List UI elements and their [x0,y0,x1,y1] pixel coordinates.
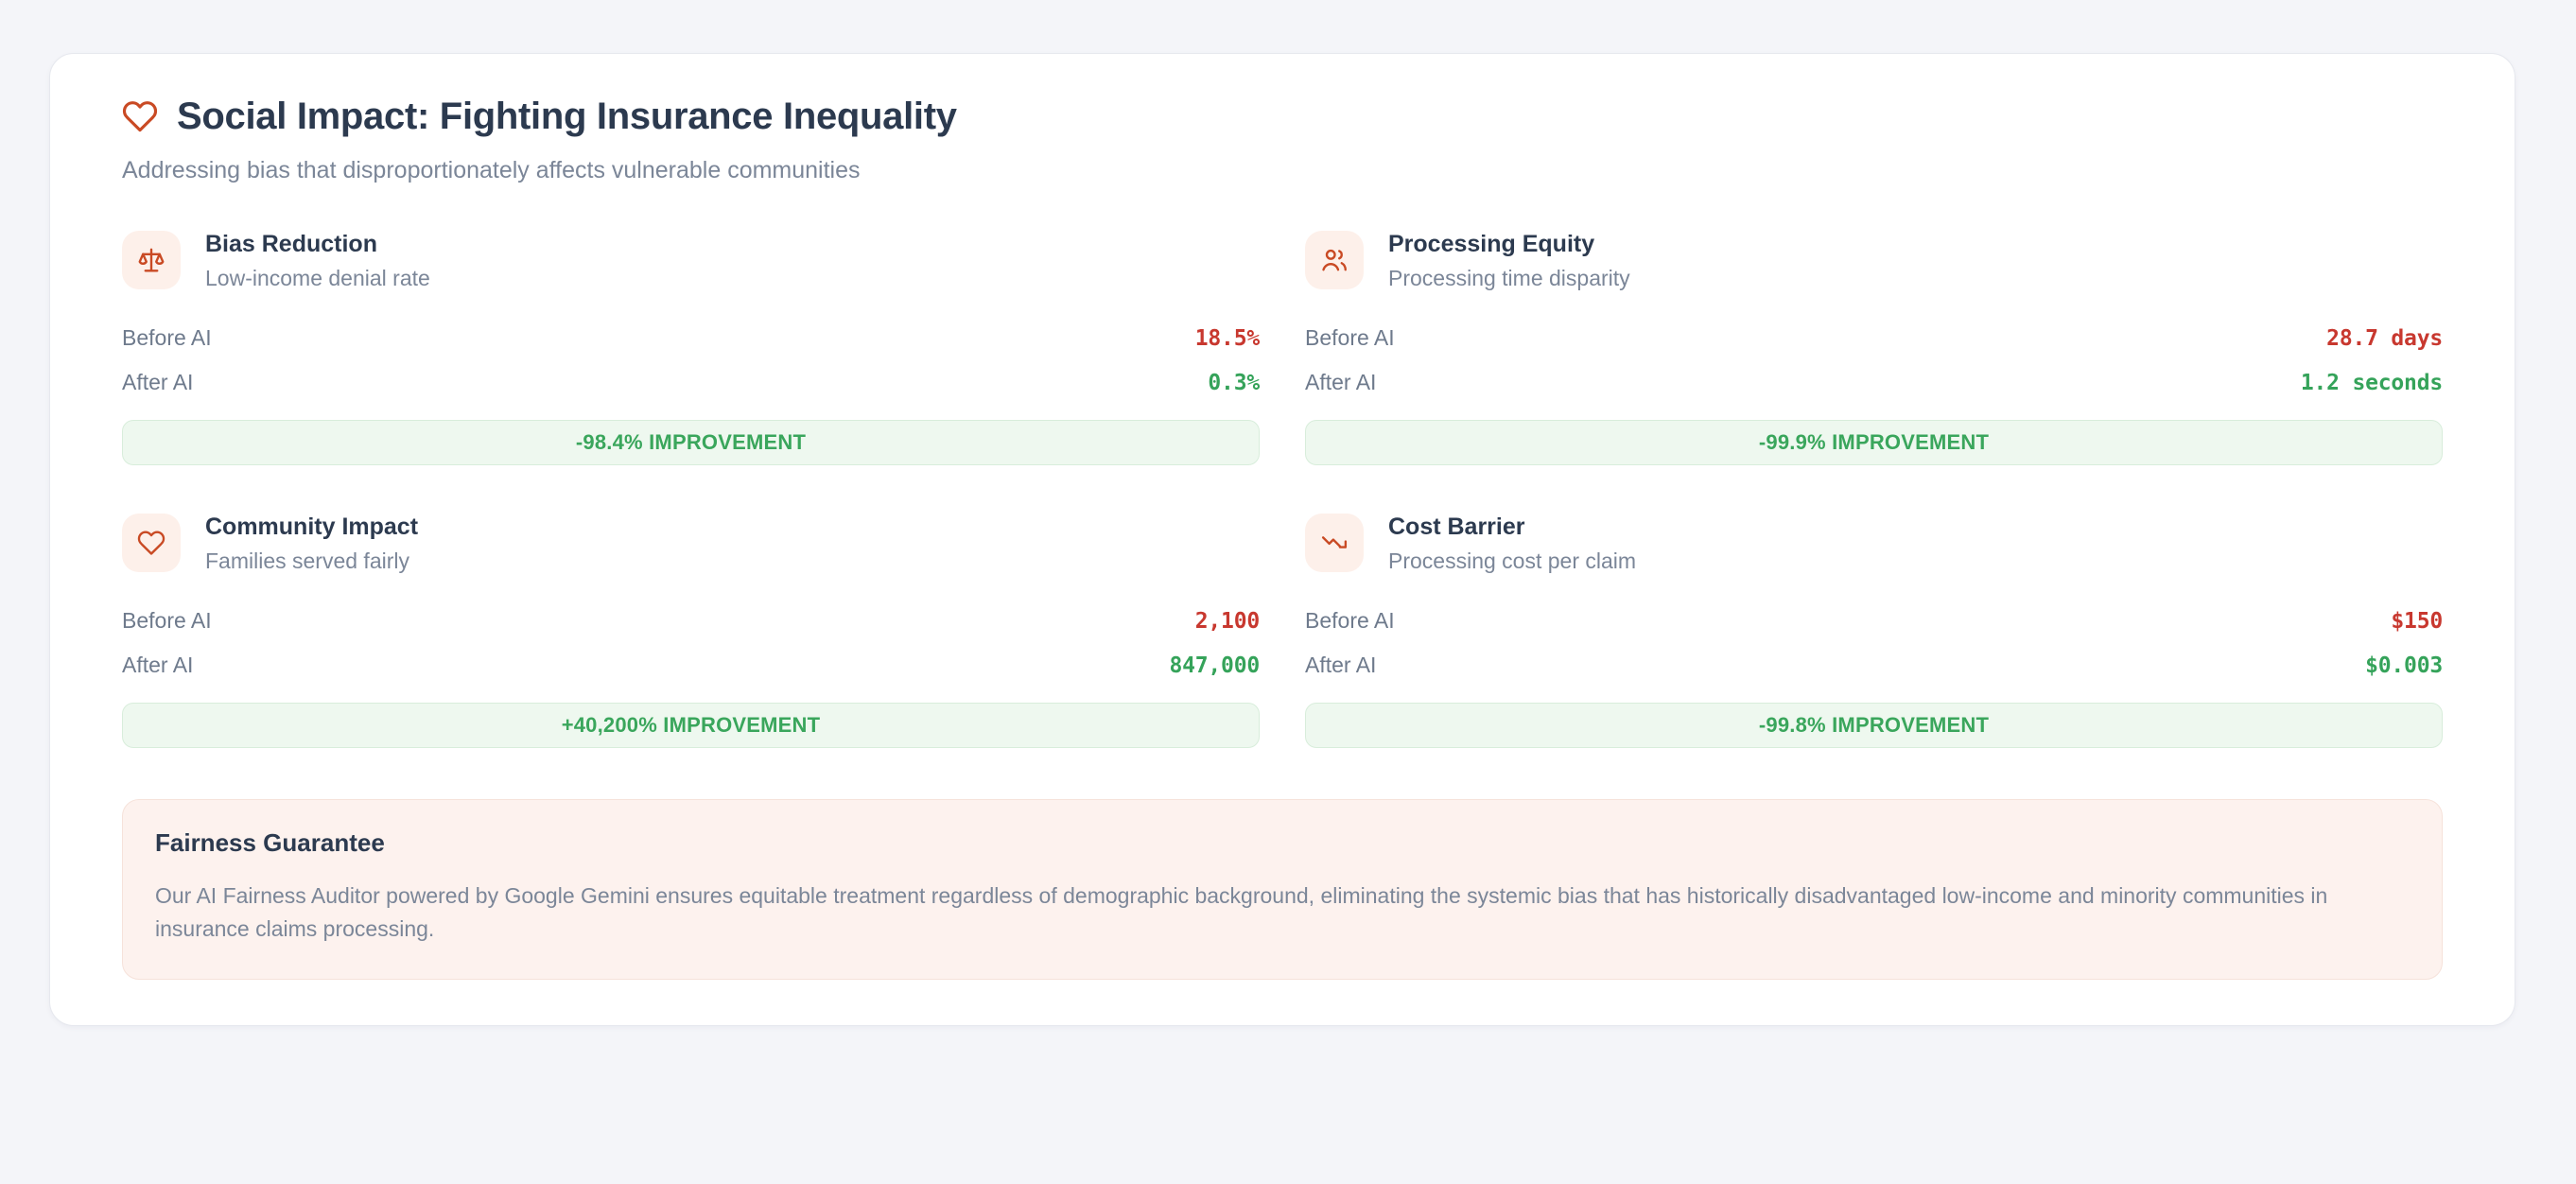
improvement-label: +40,200% IMPROVEMENT [562,713,821,738]
metric-row-before: Before AI 2,100 [122,600,1260,644]
metric-titles: Community Impact Families served fairly [205,511,418,575]
metric-description: Families served fairly [205,548,418,575]
users-icon [1305,231,1364,289]
trending-down-icon [1305,514,1364,572]
scales-icon [122,231,181,289]
metric-description: Low-income denial rate [205,265,430,292]
metric-name: Bias Reduction [205,230,430,259]
panel-header: Social Impact: Fighting Insurance Inequa… [96,92,2469,184]
metric-titles: Bias Reduction Low-income denial rate [205,228,430,292]
heart-icon [122,514,181,572]
metric-description: Processing cost per claim [1388,548,1636,575]
metric-card-bias-reduction: Bias Reduction Low-income denial rate Be… [122,228,1260,465]
row-label-after: After AI [1305,370,1376,396]
metric-name: Processing Equity [1388,230,1630,259]
metric-row-after: After AI 0.3% [122,361,1260,406]
metric-card-cost-barrier: Cost Barrier Processing cost per claim B… [1305,511,2443,748]
row-label-before: Before AI [122,608,212,635]
row-label-after: After AI [1305,653,1376,679]
metric-card-processing-equity: Processing Equity Processing time dispar… [1305,228,2443,465]
page-background: Social Impact: Fighting Insurance Inequa… [0,0,2576,1184]
metric-name: Community Impact [205,513,418,542]
heart-icon [122,98,158,134]
row-value-after: 847,000 [1169,653,1260,680]
page-title: Social Impact: Fighting Insurance Inequa… [177,96,957,137]
metric-name: Cost Barrier [1388,513,1636,542]
improvement-label: -99.8% IMPROVEMENT [1759,713,1989,738]
metric-rows: Before AI $150 After AI $0.003 [1305,600,2443,688]
metric-row-after: After AI $0.003 [1305,644,2443,688]
panel-subtitle: Addressing bias that disproportionately … [122,156,2469,184]
row-label-after: After AI [122,653,193,679]
metric-row-after: After AI 1.2 seconds [1305,361,2443,406]
row-value-before: 2,100 [1195,609,1260,636]
row-value-after: 1.2 seconds [2301,371,2443,397]
row-label-before: Before AI [1305,608,1395,635]
fairness-guarantee-body: Our AI Fairness Auditor powered by Googl… [155,879,2410,947]
improvement-label: -99.9% IMPROVEMENT [1759,430,1989,455]
metric-description: Processing time disparity [1388,265,1630,292]
metric-titles: Processing Equity Processing time dispar… [1388,228,1630,292]
metric-header: Bias Reduction Low-income denial rate [122,228,1260,292]
metric-header: Cost Barrier Processing cost per claim [1305,511,2443,575]
row-label-after: After AI [122,370,193,396]
metric-titles: Cost Barrier Processing cost per claim [1388,511,1636,575]
metric-header: Community Impact Families served fairly [122,511,1260,575]
row-value-after: 0.3% [1208,371,1260,397]
metric-rows: Before AI 28.7 days After AI 1.2 seconds [1305,317,2443,405]
row-label-before: Before AI [122,325,212,352]
improvement-bar: -99.8% IMPROVEMENT [1305,703,2443,748]
improvement-bar: -98.4% IMPROVEMENT [122,420,1260,465]
metric-row-after: After AI 847,000 [122,644,1260,688]
metric-header: Processing Equity Processing time dispar… [1305,228,2443,292]
improvement-bar: +40,200% IMPROVEMENT [122,703,1260,748]
improvement-bar: -99.9% IMPROVEMENT [1305,420,2443,465]
row-value-after: $0.003 [2365,653,2443,680]
metric-rows: Before AI 18.5% After AI 0.3% [122,317,1260,405]
metric-row-before: Before AI $150 [1305,600,2443,644]
fairness-guarantee-panel: Fairness Guarantee Our AI Fairness Audit… [122,799,2443,979]
social-impact-panel: Social Impact: Fighting Insurance Inequa… [49,53,2515,1026]
metric-row-before: Before AI 18.5% [122,317,1260,361]
row-label-before: Before AI [1305,325,1395,352]
metric-rows: Before AI 2,100 After AI 847,000 [122,600,1260,688]
title-row: Social Impact: Fighting Insurance Inequa… [122,96,2469,137]
row-value-before: 28.7 days [2326,326,2443,353]
metric-grid: Bias Reduction Low-income denial rate Be… [96,228,2469,748]
metric-card-community-impact: Community Impact Families served fairly … [122,511,1260,748]
improvement-label: -98.4% IMPROVEMENT [576,430,806,455]
row-value-before: 18.5% [1195,326,1260,353]
row-value-before: $150 [2391,609,2443,636]
metric-row-before: Before AI 28.7 days [1305,317,2443,361]
fairness-guarantee-title: Fairness Guarantee [155,828,2410,858]
